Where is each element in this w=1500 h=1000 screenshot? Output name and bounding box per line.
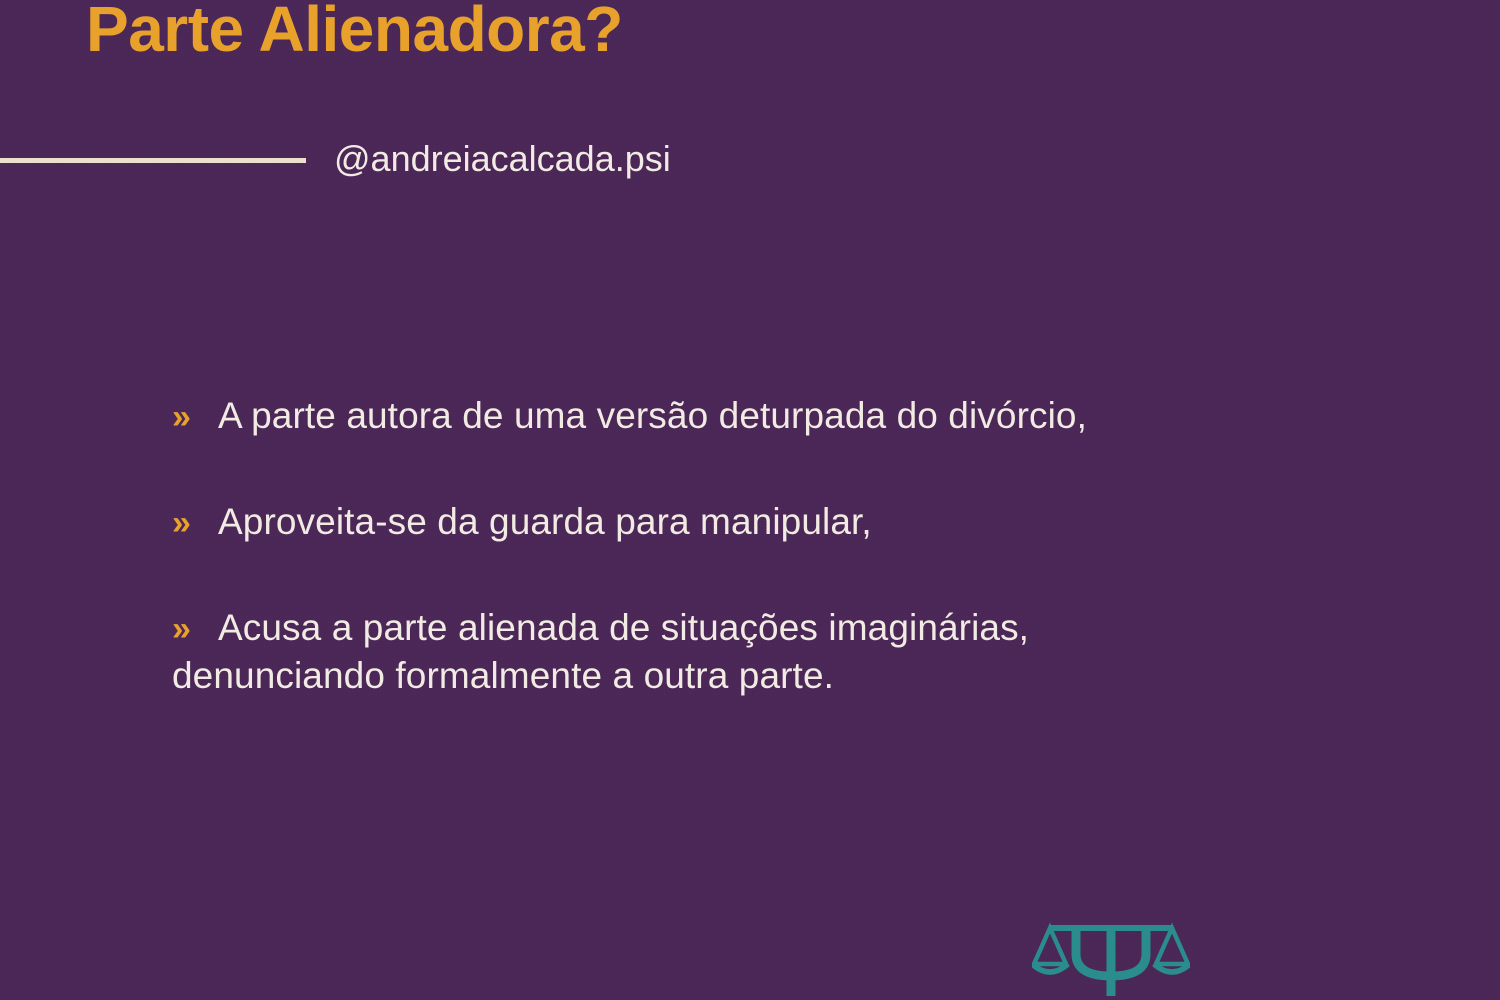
title-divider-rule <box>0 158 306 163</box>
slide-canvas: Parte Alienadora? @andreiacalcada.psi » … <box>0 0 1500 1000</box>
list-item-text: A parte autora de uma versão deturpada d… <box>172 392 1352 440</box>
page-title: Parte Alienadora? <box>86 0 623 61</box>
list-item-text-line2: denunciando formalmente a outra parte. <box>172 652 1352 700</box>
bullet-list: » A parte autora de uma versão deturpada… <box>172 392 1352 700</box>
double-chevron-icon: » <box>172 612 191 646</box>
list-item: » Acusa a parte alienada de situações im… <box>172 604 1352 700</box>
list-item: » Aproveita-se da guarda para manipular, <box>172 498 1352 546</box>
list-item-text: Aproveita-se da guarda para manipular, <box>172 498 1352 546</box>
list-item: » A parte autora de uma versão deturpada… <box>172 392 1352 440</box>
double-chevron-icon: » <box>172 506 191 540</box>
instagram-handle: @andreiacalcada.psi <box>334 141 671 177</box>
psi-scales-of-justice-logo <box>1032 918 1190 996</box>
list-item-text-line1: Acusa a parte alienada de situações imag… <box>218 607 1029 648</box>
list-item-text: Acusa a parte alienada de situações imag… <box>172 604 1352 700</box>
double-chevron-icon: » <box>172 400 191 434</box>
